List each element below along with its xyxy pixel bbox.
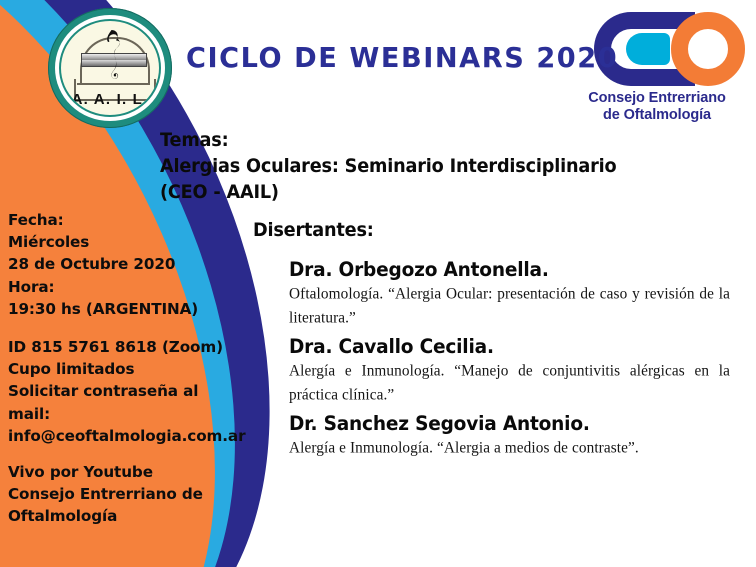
aail-logo: A. A. I. L. — [48, 8, 172, 128]
date-block: Fecha: Miércoles 28 de Octubre 2020 Hora… — [8, 209, 233, 320]
access-block: ID 815 5761 8618 (Zoom) Cupo limitados S… — [8, 336, 233, 447]
speakers-heading: Disertantes: — [253, 219, 374, 241]
speakers-list: Dra. Orbegozo Antonella. Oftalomología. … — [289, 257, 741, 465]
contact-email[interactable]: info@ceoftalmologia.com.ar — [8, 425, 233, 447]
date-label: Fecha: — [8, 209, 233, 231]
password-request-line1: Solicitar contraseña al — [8, 380, 233, 402]
capacity-note: Cupo limitados — [8, 358, 233, 380]
speaker-item: Dr. Sanchez Segovia Antonio. Alergía e I… — [289, 411, 741, 459]
topics-heading: Temas: — [160, 127, 560, 153]
event-details-panel: Fecha: Miércoles 28 de Octubre 2020 Hora… — [8, 209, 233, 528]
ceo-subtitle-line1: Consejo Entrerriano — [566, 90, 748, 107]
zoom-id: ID 815 5761 8618 (Zoom) — [8, 336, 233, 358]
speaker-description: Alergía e Inmunología. “Alergia a medios… — [289, 436, 730, 460]
page-title: CICLO DE WEBINARS 2020 — [186, 41, 618, 74]
ceo-o-shape-icon — [671, 12, 745, 86]
topic-line-1: Alergias Oculares: Seminario Interdiscip… — [160, 153, 560, 179]
speaker-item: Dra. Cavallo Cecilia. Alergía e Inmunolo… — [289, 334, 741, 405]
date-day: Miércoles — [8, 231, 233, 253]
aail-emblem: A. A. I. L. — [59, 19, 161, 117]
stream-channel-line2: Oftalmología — [8, 505, 233, 527]
stream-platform: Vivo por Youtube — [8, 461, 233, 483]
password-request-line2: mail: — [8, 403, 233, 425]
speaker-name: Dra. Orbegozo Antonella. — [289, 257, 718, 282]
ceo-logo-subtitle: Consejo Entrerriano de Oftalmología — [566, 90, 748, 124]
flyer-canvas: A. A. I. L. Consejo Entrerriano de Oftal… — [0, 0, 756, 567]
stream-block: Vivo por Youtube Consejo Entrerriano de … — [8, 461, 233, 528]
time-value: 19:30 hs (ARGENTINA) — [8, 298, 233, 320]
spacer — [8, 320, 233, 336]
speaker-name: Dr. Sanchez Segovia Antonio. — [289, 411, 718, 436]
stream-channel-line1: Consejo Entrerriano de — [8, 483, 233, 505]
time-label: Hora: — [8, 276, 233, 298]
speaker-description: Alergía e Inmunología. “Manejo de conjun… — [289, 359, 730, 407]
topic-line-2: (CEO - AAIL) — [160, 179, 560, 205]
date-value: 28 de Octubre 2020 — [8, 253, 233, 275]
spacer — [8, 447, 233, 461]
speaker-description: Oftalomología. “Alergia Ocular: presenta… — [289, 282, 730, 330]
topics-block: Temas: Alergias Oculares: Seminario Inte… — [160, 127, 560, 205]
aail-acronym: A. A. I. L. — [61, 91, 159, 108]
ceo-e-shape-icon — [626, 33, 670, 65]
seahorse-icon — [97, 29, 125, 87]
ceo-subtitle-line2: de Oftalmología — [566, 107, 748, 124]
speaker-item: Dra. Orbegozo Antonella. Oftalomología. … — [289, 257, 741, 328]
speaker-name: Dra. Cavallo Cecilia. — [289, 334, 718, 359]
